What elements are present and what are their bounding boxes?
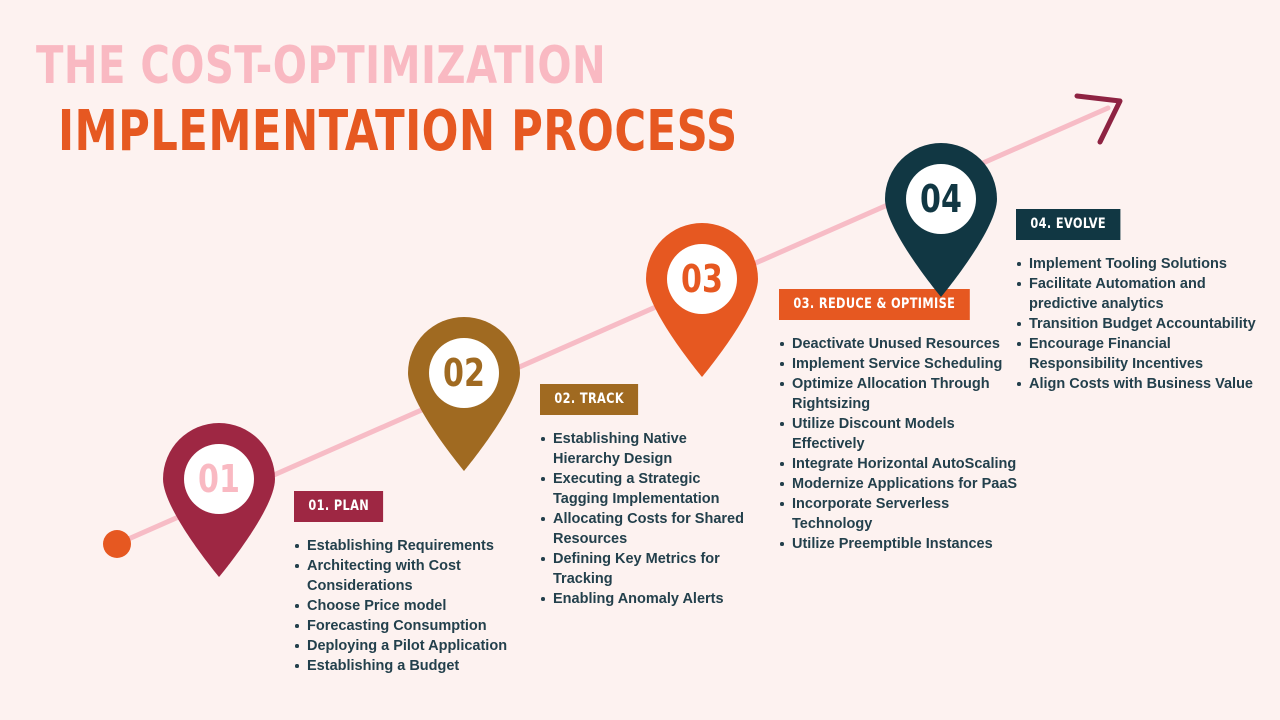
step-panel-02: 02. TRACK Establishing Native Hierarchy … — [540, 384, 755, 609]
list-item: Align Costs with Business Value — [1016, 374, 1266, 394]
step-badge-04[interactable]: 04. EVOLVE — [1016, 209, 1120, 240]
step-bullets-01: Establishing Requirements Architecting w… — [294, 536, 524, 676]
list-item: Facilitate Automation and predictive ana… — [1016, 274, 1266, 314]
map-pin-icon-03[interactable]: 03 — [640, 218, 764, 378]
step-bullets-02: Establishing Native Hierarchy Design Exe… — [540, 429, 755, 609]
map-pin-icon-04[interactable]: 04 — [879, 138, 1003, 298]
pin-number-02: 02 — [409, 312, 518, 434]
title-line-primary: THE COST-OPTIMIZATION — [36, 42, 638, 91]
step-bullets-03: Deactivate Unused Resources Implement Se… — [779, 334, 1024, 554]
list-item: Encourage Financial Responsibility Incen… — [1016, 334, 1266, 374]
list-item: Defining Key Metrics for Tracking — [540, 549, 755, 589]
list-item: Choose Price model — [294, 596, 524, 616]
list-item: Establishing a Budget — [294, 656, 524, 676]
infographic-canvas: THE COST-OPTIMIZATION IMPLEMENTATION PRO… — [0, 0, 1280, 720]
step-badge-01[interactable]: 01. PLAN — [294, 491, 383, 522]
list-item: Utilize Preemptible Instances — [779, 534, 1024, 554]
list-item: Optimize Allocation Through Rightsizing — [779, 374, 1024, 414]
page-title: THE COST-OPTIMIZATION IMPLEMENTATION PRO… — [36, 42, 736, 159]
list-item: Enabling Anomaly Alerts — [540, 589, 755, 609]
step-panel-03: 03. REDUCE & OPTIMISE Deactivate Unused … — [779, 289, 1024, 554]
list-item: Deploying a Pilot Application — [294, 636, 524, 656]
pin-number-04: 04 — [886, 138, 995, 260]
arrow-head-icon — [1077, 96, 1120, 142]
list-item: Transition Budget Accountability — [1016, 314, 1266, 334]
list-item: Deactivate Unused Resources — [779, 334, 1024, 354]
list-item: Executing a Strategic Tagging Implementa… — [540, 469, 755, 509]
list-item: Incorporate Serverless Technology — [779, 494, 1024, 534]
list-item: Establishing Requirements — [294, 536, 524, 556]
list-item: Architecting with Cost Considerations — [294, 556, 524, 596]
step-bullets-04: Implement Tooling Solutions Facilitate A… — [1016, 254, 1266, 394]
pin-number-01: 01 — [164, 418, 273, 540]
list-item: Implement Service Scheduling — [779, 354, 1024, 374]
list-item: Establishing Native Hierarchy Design — [540, 429, 755, 469]
list-item: Forecasting Consumption — [294, 616, 524, 636]
step-panel-01: 01. PLAN Establishing Requirements Archi… — [294, 491, 524, 676]
list-item: Integrate Horizontal AutoScaling — [779, 454, 1024, 474]
pin-number-03: 03 — [647, 218, 756, 340]
list-item: Modernize Applications for PaaS — [779, 474, 1024, 494]
list-item: Utilize Discount Models Effectively — [779, 414, 1024, 454]
map-pin-icon-01[interactable]: 01 — [157, 418, 281, 578]
step-panel-04: 04. EVOLVE Implement Tooling Solutions F… — [1016, 209, 1266, 394]
step-badge-02[interactable]: 02. TRACK — [540, 384, 638, 415]
title-line-secondary: IMPLEMENTATION PROCESS — [58, 105, 641, 158]
map-pin-icon-02[interactable]: 02 — [402, 312, 526, 472]
list-item: Allocating Costs for Shared Resources — [540, 509, 755, 549]
start-dot — [103, 530, 131, 558]
list-item: Implement Tooling Solutions — [1016, 254, 1266, 274]
